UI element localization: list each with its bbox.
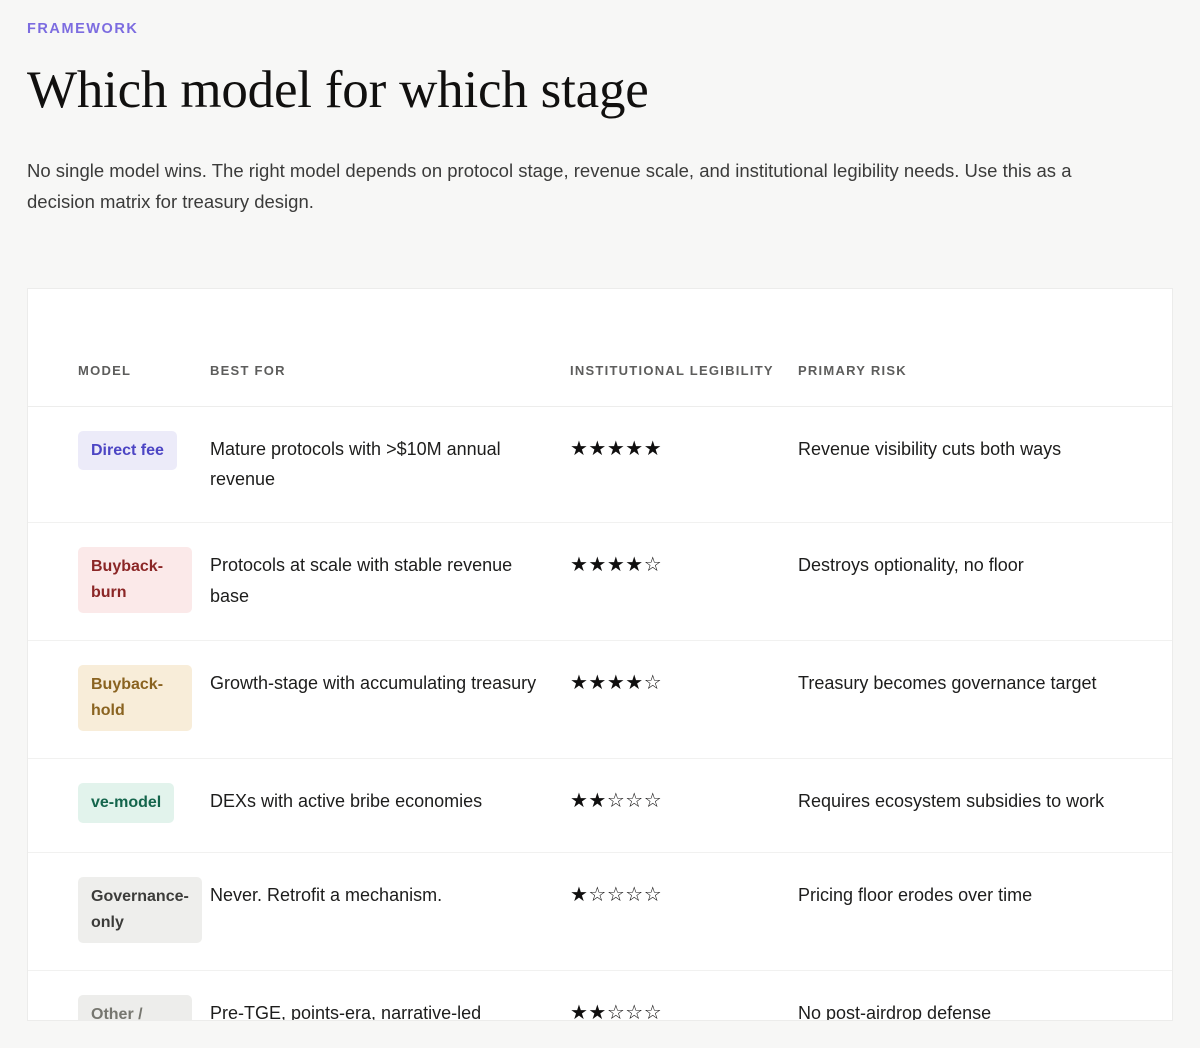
primary-risk-text: Destroys optionality, no floor	[798, 550, 1156, 581]
model-badge: Buyback-hold	[78, 665, 192, 731]
table-row: Governance-only Never. Retrofit a mechan…	[28, 853, 1173, 971]
table-body: Direct fee Mature protocols with >$10M a…	[28, 406, 1173, 1021]
primary-risk-text: Requires ecosystem subsidies to work	[798, 786, 1156, 817]
model-cell: Governance-only	[28, 853, 210, 971]
model-cell: Other / hybrid	[28, 970, 210, 1021]
primary-risk-cell: Revenue visibility cuts both ways	[798, 406, 1173, 523]
model-cell: Buyback-burn	[28, 523, 210, 641]
star-rating: ★☆☆☆☆	[570, 882, 662, 906]
best-for-text: Growth-stage with accumulating treasury	[210, 668, 552, 699]
primary-risk-cell: No post-airdrop defense	[798, 970, 1173, 1021]
model-cell: ve-model	[28, 759, 210, 853]
primary-risk-cell: Destroys optionality, no floor	[798, 523, 1173, 641]
table-row: Direct fee Mature protocols with >$10M a…	[28, 406, 1173, 523]
framework-page: FRAMEWORK Which model for which stage No…	[0, 0, 1200, 1048]
primary-risk-cell: Treasury becomes governance target	[798, 641, 1173, 759]
star-rating: ★★★★☆	[570, 670, 662, 694]
best-for-text: Never. Retrofit a mechanism.	[210, 880, 552, 911]
table-row: ve-model DEXs with active bribe economie…	[28, 759, 1173, 853]
primary-risk-text: Treasury becomes governance target	[798, 668, 1156, 699]
legibility-cell: ★★★★☆	[570, 641, 798, 759]
table-row: Other / hybrid Pre-TGE, points-era, narr…	[28, 970, 1173, 1021]
primary-risk-text: Pricing floor erodes over time	[798, 880, 1156, 911]
table-row: Buyback-hold Growth-stage with accumulat…	[28, 641, 1173, 759]
legibility-cell: ★☆☆☆☆	[570, 853, 798, 971]
intro-paragraph: No single model wins. The right model de…	[27, 155, 1127, 219]
primary-risk-cell: Pricing floor erodes over time	[798, 853, 1173, 971]
best-for-text: Protocols at scale with stable revenue b…	[210, 550, 552, 612]
best-for-cell: Growth-stage with accumulating treasury	[210, 641, 570, 759]
page-title: Which model for which stage	[27, 62, 1173, 119]
primary-risk-text: No post-airdrop defense	[798, 998, 1156, 1021]
primary-risk-cell: Requires ecosystem subsidies to work	[798, 759, 1173, 853]
model-badge: Governance-only	[78, 877, 202, 943]
column-header-best-for: BEST FOR	[210, 289, 570, 406]
star-rating: ★★★★☆	[570, 552, 662, 576]
table-row: Buyback-burn Protocols at scale with sta…	[28, 523, 1173, 641]
model-badge: ve-model	[78, 783, 174, 823]
model-badge: Buyback-burn	[78, 547, 192, 613]
legibility-cell: ★★☆☆☆	[570, 970, 798, 1021]
best-for-cell: Protocols at scale with stable revenue b…	[210, 523, 570, 641]
star-rating: ★★☆☆☆	[570, 788, 662, 812]
column-header-model: MODEL	[28, 289, 210, 406]
star-rating: ★★★★★	[570, 436, 662, 460]
primary-risk-text: Revenue visibility cuts both ways	[798, 434, 1156, 465]
best-for-text: DEXs with active bribe economies	[210, 786, 552, 817]
legibility-cell: ★★★★★	[570, 406, 798, 523]
legibility-cell: ★★☆☆☆	[570, 759, 798, 853]
best-for-cell: Never. Retrofit a mechanism.	[210, 853, 570, 971]
decision-matrix-table: MODEL BEST FOR INSTITUTIONAL LEGIBILITY …	[28, 289, 1173, 1021]
column-header-primary-risk: PRIMARY RISK	[798, 289, 1173, 406]
best-for-cell: Pre-TGE, points-era, narrative-led launc…	[210, 970, 570, 1021]
table-header: MODEL BEST FOR INSTITUTIONAL LEGIBILITY …	[28, 289, 1173, 406]
best-for-cell: DEXs with active bribe economies	[210, 759, 570, 853]
model-cell: Buyback-hold	[28, 641, 210, 759]
best-for-text: Pre-TGE, points-era, narrative-led launc…	[210, 998, 552, 1021]
column-header-institutional-legibility: INSTITUTIONAL LEGIBILITY	[570, 289, 798, 406]
section-eyebrow: FRAMEWORK	[27, 0, 1173, 38]
model-badge: Direct fee	[78, 431, 177, 471]
model-badge: Other / hybrid	[78, 995, 192, 1021]
table-header-row: MODEL BEST FOR INSTITUTIONAL LEGIBILITY …	[28, 289, 1173, 406]
best-for-text: Mature protocols with >$10M annual reven…	[210, 434, 552, 496]
decision-matrix-card: MODEL BEST FOR INSTITUTIONAL LEGIBILITY …	[27, 288, 1173, 1021]
model-cell: Direct fee	[28, 406, 210, 523]
star-rating: ★★☆☆☆	[570, 1000, 662, 1021]
legibility-cell: ★★★★☆	[570, 523, 798, 641]
best-for-cell: Mature protocols with >$10M annual reven…	[210, 406, 570, 523]
